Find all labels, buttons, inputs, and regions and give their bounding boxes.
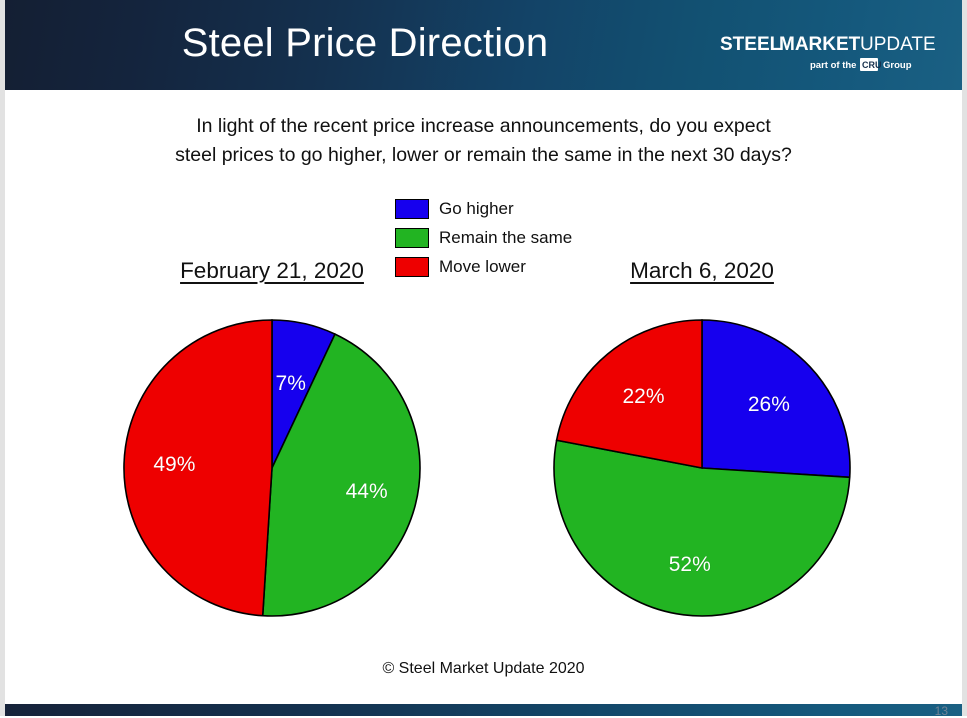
slide: Steel Price Direction STEEL MARKET UPDAT… — [0, 0, 967, 716]
legend-swatch-remain-the-same — [395, 228, 429, 248]
logo-word-update: UPDATE — [860, 34, 936, 55]
logo-svg: STEEL MARKET UPDATE part of the CRU Grou… — [708, 12, 938, 80]
question-line-2: steel prices to go higher, lower or rema… — [5, 141, 962, 170]
logo-tagline-pre: part of the — [810, 60, 856, 71]
legend-item-remain-the-same: Remain the same — [395, 223, 645, 252]
pie-chart-february: February 21, 2020 7% 44% 49% — [122, 256, 422, 618]
legend-label-move-lower: Move lower — [439, 257, 526, 277]
pie-label-march-go-higher: 26% — [748, 393, 790, 417]
pie-title-march: March 6, 2020 — [552, 256, 852, 286]
legend-swatch-go-higher — [395, 199, 429, 219]
survey-question: In light of the recent price increase an… — [5, 112, 962, 170]
pie-title-february: February 21, 2020 — [122, 256, 422, 286]
pie-label-february-go-higher: 7% — [276, 372, 306, 396]
header-banner: Steel Price Direction STEEL MARKET UPDAT… — [5, 0, 962, 90]
pie-label-february-move-lower: 49% — [153, 453, 195, 477]
legend-item-go-higher: Go higher — [395, 194, 645, 223]
logo-tagline-badge: CRU — [862, 60, 882, 70]
steel-market-update-logo: STEEL MARKET UPDATE part of the CRU Grou… — [708, 12, 938, 80]
logo-tagline-post: Group — [883, 60, 912, 71]
legend-label-go-higher: Go higher — [439, 199, 514, 219]
pie-label-march-move-lower: 22% — [622, 385, 664, 409]
pie-label-march-remain-the-same: 52% — [669, 553, 711, 577]
pie-slice — [124, 320, 272, 616]
pie-canvas-march: 26% 52% 22% — [552, 318, 852, 618]
pie-chart-march: March 6, 2020 26% 52% 22% — [552, 256, 852, 618]
copyright-text: © Steel Market Update 2020 — [5, 660, 962, 678]
page-title: Steel Price Direction — [5, 15, 725, 71]
footer-banner: 13 — [5, 704, 962, 716]
pie-label-february-remain-the-same: 44% — [346, 480, 388, 504]
pie-canvas-february: 7% 44% 49% — [122, 318, 422, 618]
logo-word-market: MARKET — [779, 34, 861, 55]
logo-word-steel: STEEL — [720, 34, 782, 55]
legend-label-remain-the-same: Remain the same — [439, 228, 572, 248]
question-line-1: In light of the recent price increase an… — [5, 112, 962, 141]
